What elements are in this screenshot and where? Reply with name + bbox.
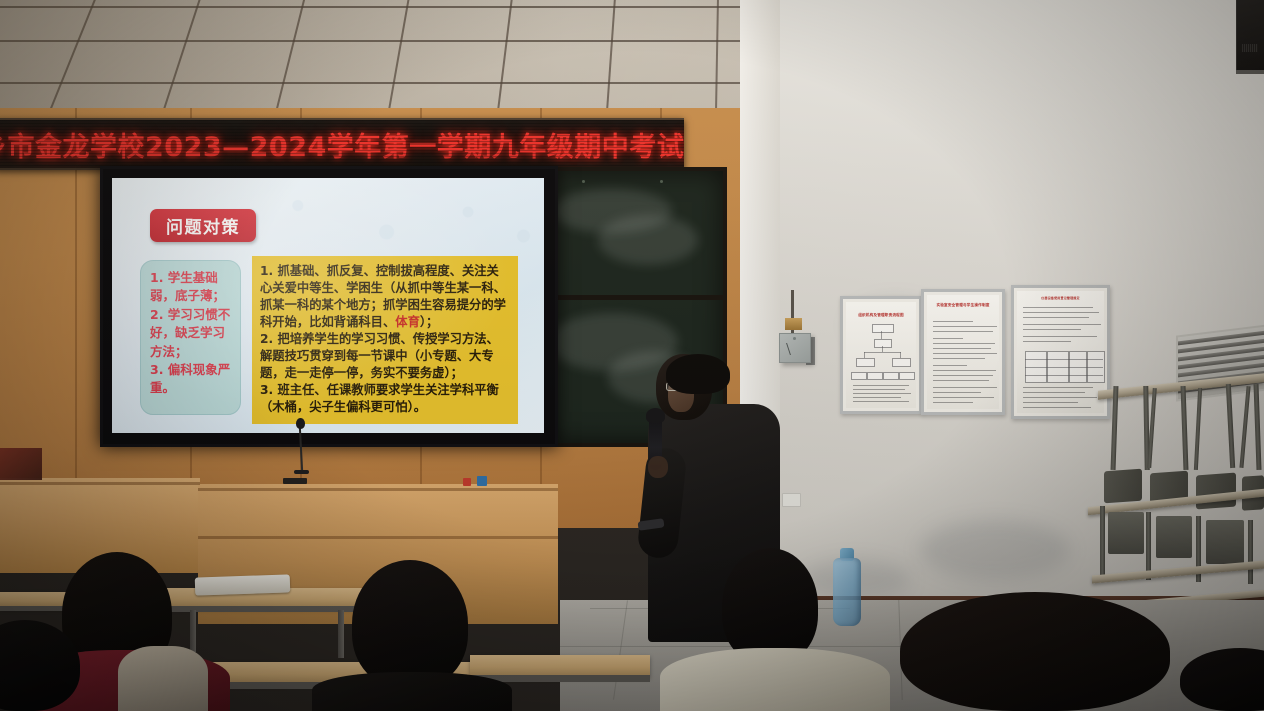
blue-marker [477,476,487,486]
conduit-clamp [785,318,802,330]
countermeasure-item-1: 1. 抓基础、抓反复、控制拔高程度、关注关心关爱中等生、学困生（从抓中等生某一科… [260,263,510,331]
water-jug [833,558,861,626]
presenter-head [656,354,712,420]
problems-box: 1. 学生基础弱，底子薄； 2. 学习习惯不好，缺乏学习方法； 3. 偏科现象严… [140,260,241,415]
paper-sheets [195,574,291,595]
countermeasure-item-2: 2. 把培养学生的学习习惯、传授学习方法、解题技巧贯穿到每一节课中（小专题、大专… [260,331,510,382]
presenter-hand [648,456,668,478]
desk-object-dark [283,478,307,484]
projection-screen: 问题对策 1. 学生基础弱，底子薄； 2. 学习习惯不好，缺乏学习方法； 3. … [100,166,558,447]
presentation-slide: 问题对策 1. 学生基础弱，底子薄； 2. 学习习惯不好，缺乏学习方法； 3. … [112,178,544,433]
presenter-hair [666,354,730,394]
countermeasure-item-3: 3. 班主任、任课教师要求学生关注学科平衡（木桶，尖子生偏科更可怕）。 [260,382,510,416]
problem-item: 1. 学生基础弱，底子薄； [150,269,234,306]
slide-title-badge: 问题对策 [150,209,256,242]
countermeasures-box: 1. 抓基础、抓反复、控制拔高程度、关注关心关爱中等生、学困生（从抓中等生某一科… [252,256,518,424]
led-banner: 乡市金龙学校2023—2024学年第一学期九年级期中考试分析会 [0,118,684,170]
wall-poster-middle: 实验室安全管理与学生操作制度 [921,289,1005,415]
wall-poster-right: 仪器设备使用登记管理规定 [1011,285,1110,419]
red-marker [463,478,471,486]
red-cloth [0,448,42,480]
microphone-icon [296,418,305,429]
problem-item: 2. 学习习惯不好，缺乏学习方法； [150,306,234,361]
microphone-base [294,470,309,474]
microphone-head-icon [646,408,665,423]
classroom-scene: 乡市金龙学校2023—2024学年第一学期九年级期中考试分析会 问题对策 1. … [0,0,1264,711]
audience-desk-front [470,655,650,677]
poster-title: 仪器设备使用登记管理规定 [1017,296,1104,301]
speaker-icon [1236,0,1264,70]
poster-title: 组织机构及管理职责流程图 [846,313,916,318]
problem-item: 3. 偏科现象严重。 [150,361,234,398]
highlight-term: 体育 [395,315,420,329]
poster-title: 实验室安全管理与学生操作制度 [927,303,999,308]
wall-poster-left: 组织机构及管理职责流程图 [840,296,922,414]
